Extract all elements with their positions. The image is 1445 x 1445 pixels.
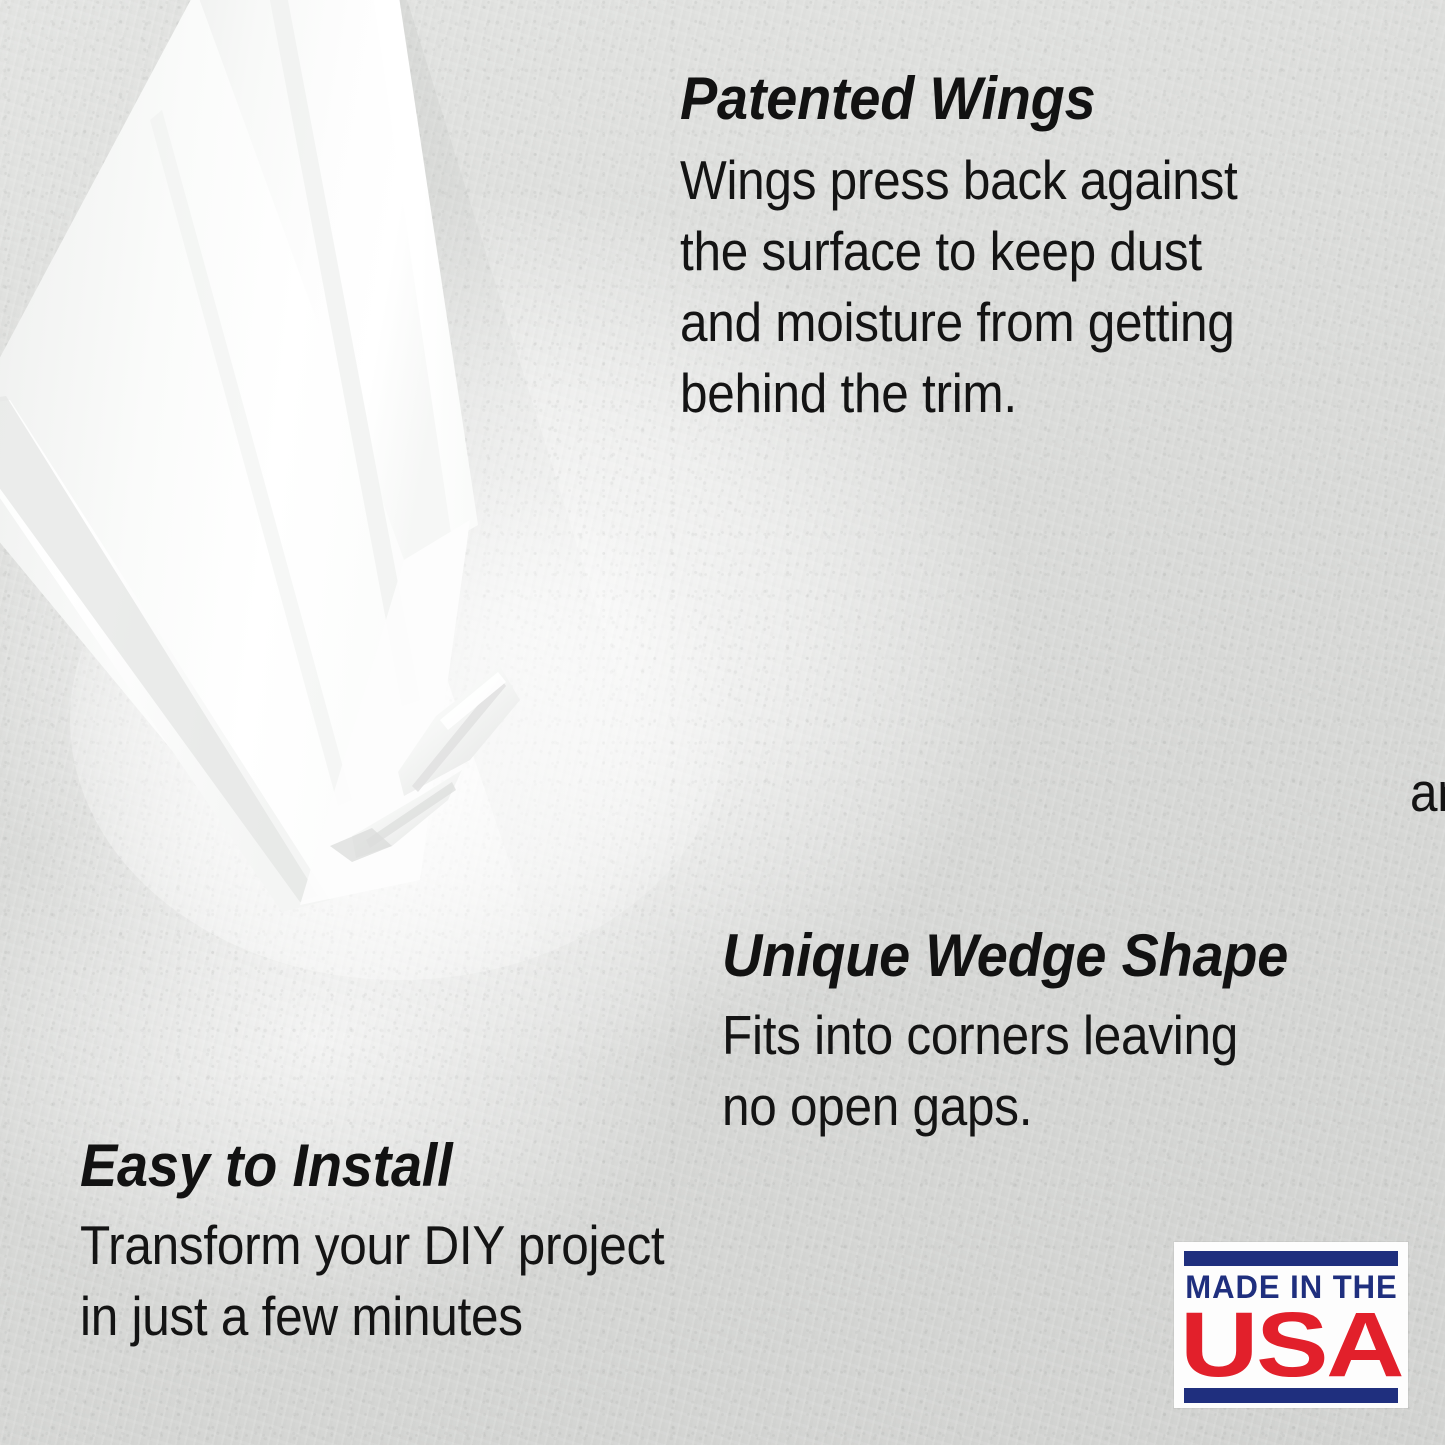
feature-body-line: and moisture from getting: [680, 287, 1238, 358]
feature-body-self-adhesive: Putty-like adhesive spreads to fill gaps…: [1410, 615, 1445, 828]
feature-block-patented-wings: Patented Wings Wings press back against …: [680, 68, 1299, 429]
feature-title-easy-to-install: Easy to Install: [80, 1135, 684, 1196]
feature-body-line: behind the trim.: [680, 358, 1238, 429]
feature-body-line: Putty-like adhesive: [1410, 615, 1445, 686]
infographic-canvas: Patented Wings Wings press back against …: [0, 0, 1445, 1445]
feature-body-easy-to-install: Transform your DIY project in just a few…: [80, 1210, 664, 1352]
feature-body-line: in just a few minutes: [80, 1281, 664, 1352]
feature-block-unique-wedge-shape: Unique Wedge Shape Fits into corners lea…: [722, 925, 1331, 1142]
feature-body-line: spreads to fill gaps: [1410, 686, 1445, 757]
feature-body-line: no open gaps.: [722, 1071, 1270, 1142]
feature-block-easy-to-install: Easy to Install Transform your DIY proje…: [80, 1135, 729, 1352]
feature-block-self-adhesive: Self-adhesive Putty-like adhesive spread…: [1358, 540, 1445, 828]
feature-body-patented-wings: Wings press back against the surface to …: [680, 145, 1238, 429]
feature-title-patented-wings: Patented Wings: [680, 68, 1256, 129]
product-image-wedge-trim: [0, 0, 760, 1000]
feature-body-line: Fits into corners leaving: [722, 1000, 1270, 1071]
badge-top-bar: [1184, 1251, 1398, 1266]
made-in-usa-badge: MADE IN THE USA: [1174, 1242, 1408, 1408]
feature-body-unique-wedge-shape: Fits into corners leaving no open gaps.: [722, 1000, 1270, 1142]
feature-body-line: Transform your DIY project: [80, 1210, 664, 1281]
badge-usa-text: USA: [1180, 1302, 1402, 1388]
feature-body-line: the surface to keep dust: [680, 216, 1238, 287]
feature-body-line: Wings press back against: [680, 145, 1238, 216]
feature-title-self-adhesive: Self-adhesive: [1394, 540, 1445, 601]
feature-title-unique-wedge-shape: Unique Wedge Shape: [722, 925, 1288, 986]
feature-body-line: and uneven surfaces.: [1410, 757, 1445, 828]
